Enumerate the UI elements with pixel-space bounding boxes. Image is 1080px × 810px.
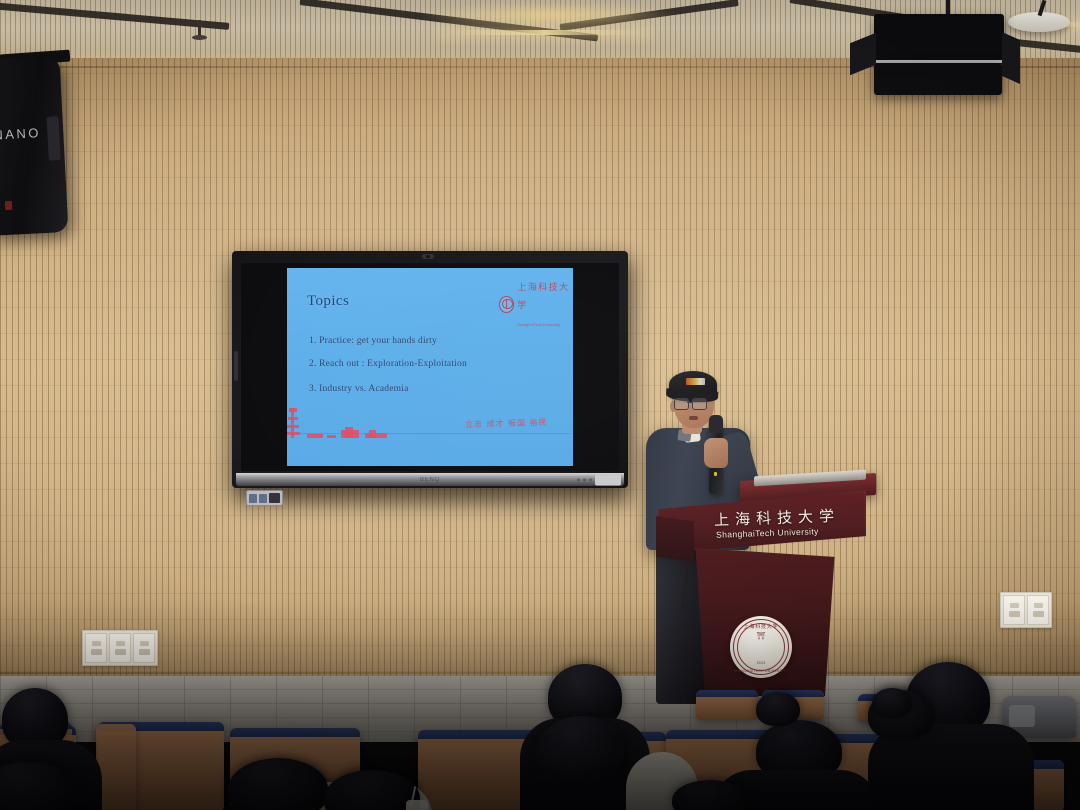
lecture-hall-photo: NANO 上海科技大学 ShanghaiTech University Topi… xyxy=(0,0,1080,810)
slide-footer-calligraphy: 立志 成才 报国 裕民 xyxy=(465,417,548,430)
power-socket-icon xyxy=(85,633,107,663)
slide-logo-cn: 上海科技大学 xyxy=(517,283,569,311)
lectern-name-cn: 上海科技大学 xyxy=(714,505,841,530)
lectern: 上海科技大学 ShanghaiTech University 上海科技大学 ⛩ … xyxy=(648,478,878,708)
seal-cn-text: 上海科技大学 xyxy=(730,623,792,630)
stage-light-barn-door xyxy=(1002,32,1020,84)
display-power-button[interactable] xyxy=(595,474,621,485)
power-socket-icon xyxy=(109,633,131,663)
interactive-display[interactable]: 上海科技大学 ShanghaiTech University Topics 1.… xyxy=(232,251,628,488)
presenter-mouth xyxy=(689,416,698,420)
wall-outlet-plate xyxy=(82,630,158,666)
loudspeaker-brand-label: NANO xyxy=(0,125,41,142)
display-panel: 上海科技大学 ShanghaiTech University Topics 1.… xyxy=(241,263,619,471)
audience-member-head-far xyxy=(872,688,912,718)
slide-bullet-3: 3. Industry vs. Academia xyxy=(309,384,409,394)
seal-year: 2013 xyxy=(730,661,792,665)
ceiling-light-strip xyxy=(440,30,650,35)
auditorium-seat-far xyxy=(696,690,758,720)
slide-bullet-1: 1. Practice: get your hands dirty xyxy=(309,336,437,346)
seat-headrest xyxy=(418,730,538,739)
webcam-icon xyxy=(422,254,434,259)
slide-bullet-2: 2. Reach out : Exploration-Exploitation xyxy=(309,359,467,369)
cap-logo-icon xyxy=(686,378,705,385)
face-mask xyxy=(406,800,428,810)
audience-member-head xyxy=(536,716,628,788)
power-socket-icon xyxy=(133,633,155,663)
presenter-glasses xyxy=(673,398,717,410)
display-brand-label: BENQ xyxy=(420,477,440,483)
power-socket-icon xyxy=(1003,595,1025,625)
glasses-lens-right xyxy=(692,398,707,410)
shanghaitech-seal-icon xyxy=(499,296,514,313)
loudspeaker-led-icon xyxy=(5,201,12,210)
auditorium-seat xyxy=(96,724,136,810)
loudspeaker-handle xyxy=(47,116,61,161)
av-control-panel-icon[interactable] xyxy=(246,490,283,506)
presenter-hand xyxy=(704,438,728,468)
audience-member-head-far xyxy=(756,692,800,726)
seat-headrest xyxy=(230,728,360,737)
glasses-lens-left xyxy=(674,398,689,410)
seat-cushion xyxy=(1009,705,1035,727)
ceiling-light-glow xyxy=(420,2,680,28)
ceiling-hook-icon xyxy=(198,20,201,37)
lectern-gooseneck-mic xyxy=(681,564,690,610)
stage-light-fixture xyxy=(862,0,1077,105)
microphone-led-icon xyxy=(714,472,717,476)
presentation-slide: 上海科技大学 ShanghaiTech University Topics 1.… xyxy=(287,268,573,466)
loudspeaker: NANO xyxy=(0,56,69,236)
display-bottom-bezel: BENQ xyxy=(236,473,624,486)
display-side-button[interactable] xyxy=(234,351,238,381)
slide-title: Topics xyxy=(307,293,349,310)
lectern-left-side xyxy=(656,516,694,562)
stage-light-lower-panel xyxy=(874,63,1002,95)
stage-light-stem xyxy=(946,0,950,14)
slide-logo-en: ShanghaiTech University xyxy=(517,323,560,327)
slide-university-logo: 上海科技大学 ShanghaiTech University xyxy=(499,277,573,331)
microphone-head xyxy=(709,415,723,433)
stage-light-body xyxy=(874,14,1004,64)
slide-skyline-graphic xyxy=(289,406,394,438)
power-socket-icon xyxy=(1027,595,1049,625)
seal-emblem-icon: ⛩ xyxy=(757,633,766,640)
seal-en-text: SHANGHAITECH UNIVERSITY xyxy=(730,669,792,673)
seat-headrest xyxy=(696,690,758,697)
wall-outlet-plate xyxy=(1000,592,1052,628)
university-seal-icon: 上海科技大学 ⛩ 2013 SHANGHAITECH UNIVERSITY xyxy=(730,616,792,678)
